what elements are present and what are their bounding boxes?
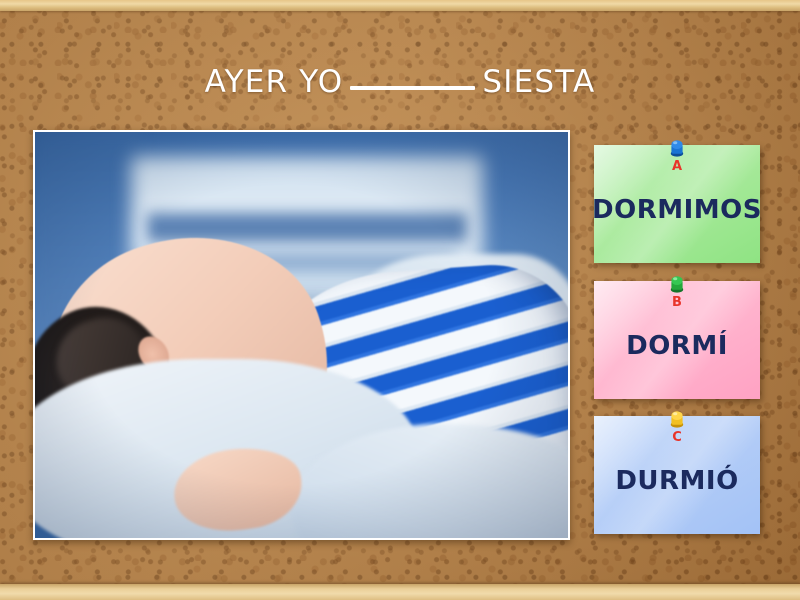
answer-label-a: DORMIMOS	[592, 195, 762, 225]
page-title: AYER YOSIESTA	[205, 64, 596, 100]
sleeping-boy-photo	[35, 132, 568, 538]
answer-card-b-surface[interactable]: B DORMÍ	[594, 281, 760, 399]
answer-label-b: DORMÍ	[626, 331, 728, 361]
answer-card-c[interactable]: C DURMIÓ	[594, 416, 760, 534]
pushpin-yellow-icon	[667, 407, 687, 428]
question-prefix: AYER YO	[205, 64, 344, 100]
pushpin-green-icon	[667, 272, 687, 293]
photo-vignette	[35, 132, 568, 538]
answer-letter-c: C	[594, 430, 760, 445]
question-title-bar: AYER YOSIESTA	[0, 64, 800, 100]
answer-card-a-surface[interactable]: A DORMIMOS	[594, 145, 760, 263]
wooden-frame-top	[0, 0, 800, 11]
question-image-frame	[33, 130, 570, 540]
answer-label-c: DURMIÓ	[615, 466, 738, 496]
answer-card-a[interactable]: A DORMIMOS	[594, 145, 760, 263]
pushpin-blue-icon	[667, 136, 687, 157]
answer-card-b[interactable]: B DORMÍ	[594, 281, 760, 399]
answer-letter-a: A	[594, 159, 760, 174]
answer-letter-b: B	[594, 295, 760, 310]
question-suffix: SIESTA	[482, 64, 595, 100]
question-blank-underline	[350, 86, 475, 90]
wooden-frame-bottom	[0, 584, 800, 600]
answer-card-c-surface[interactable]: C DURMIÓ	[594, 416, 760, 534]
